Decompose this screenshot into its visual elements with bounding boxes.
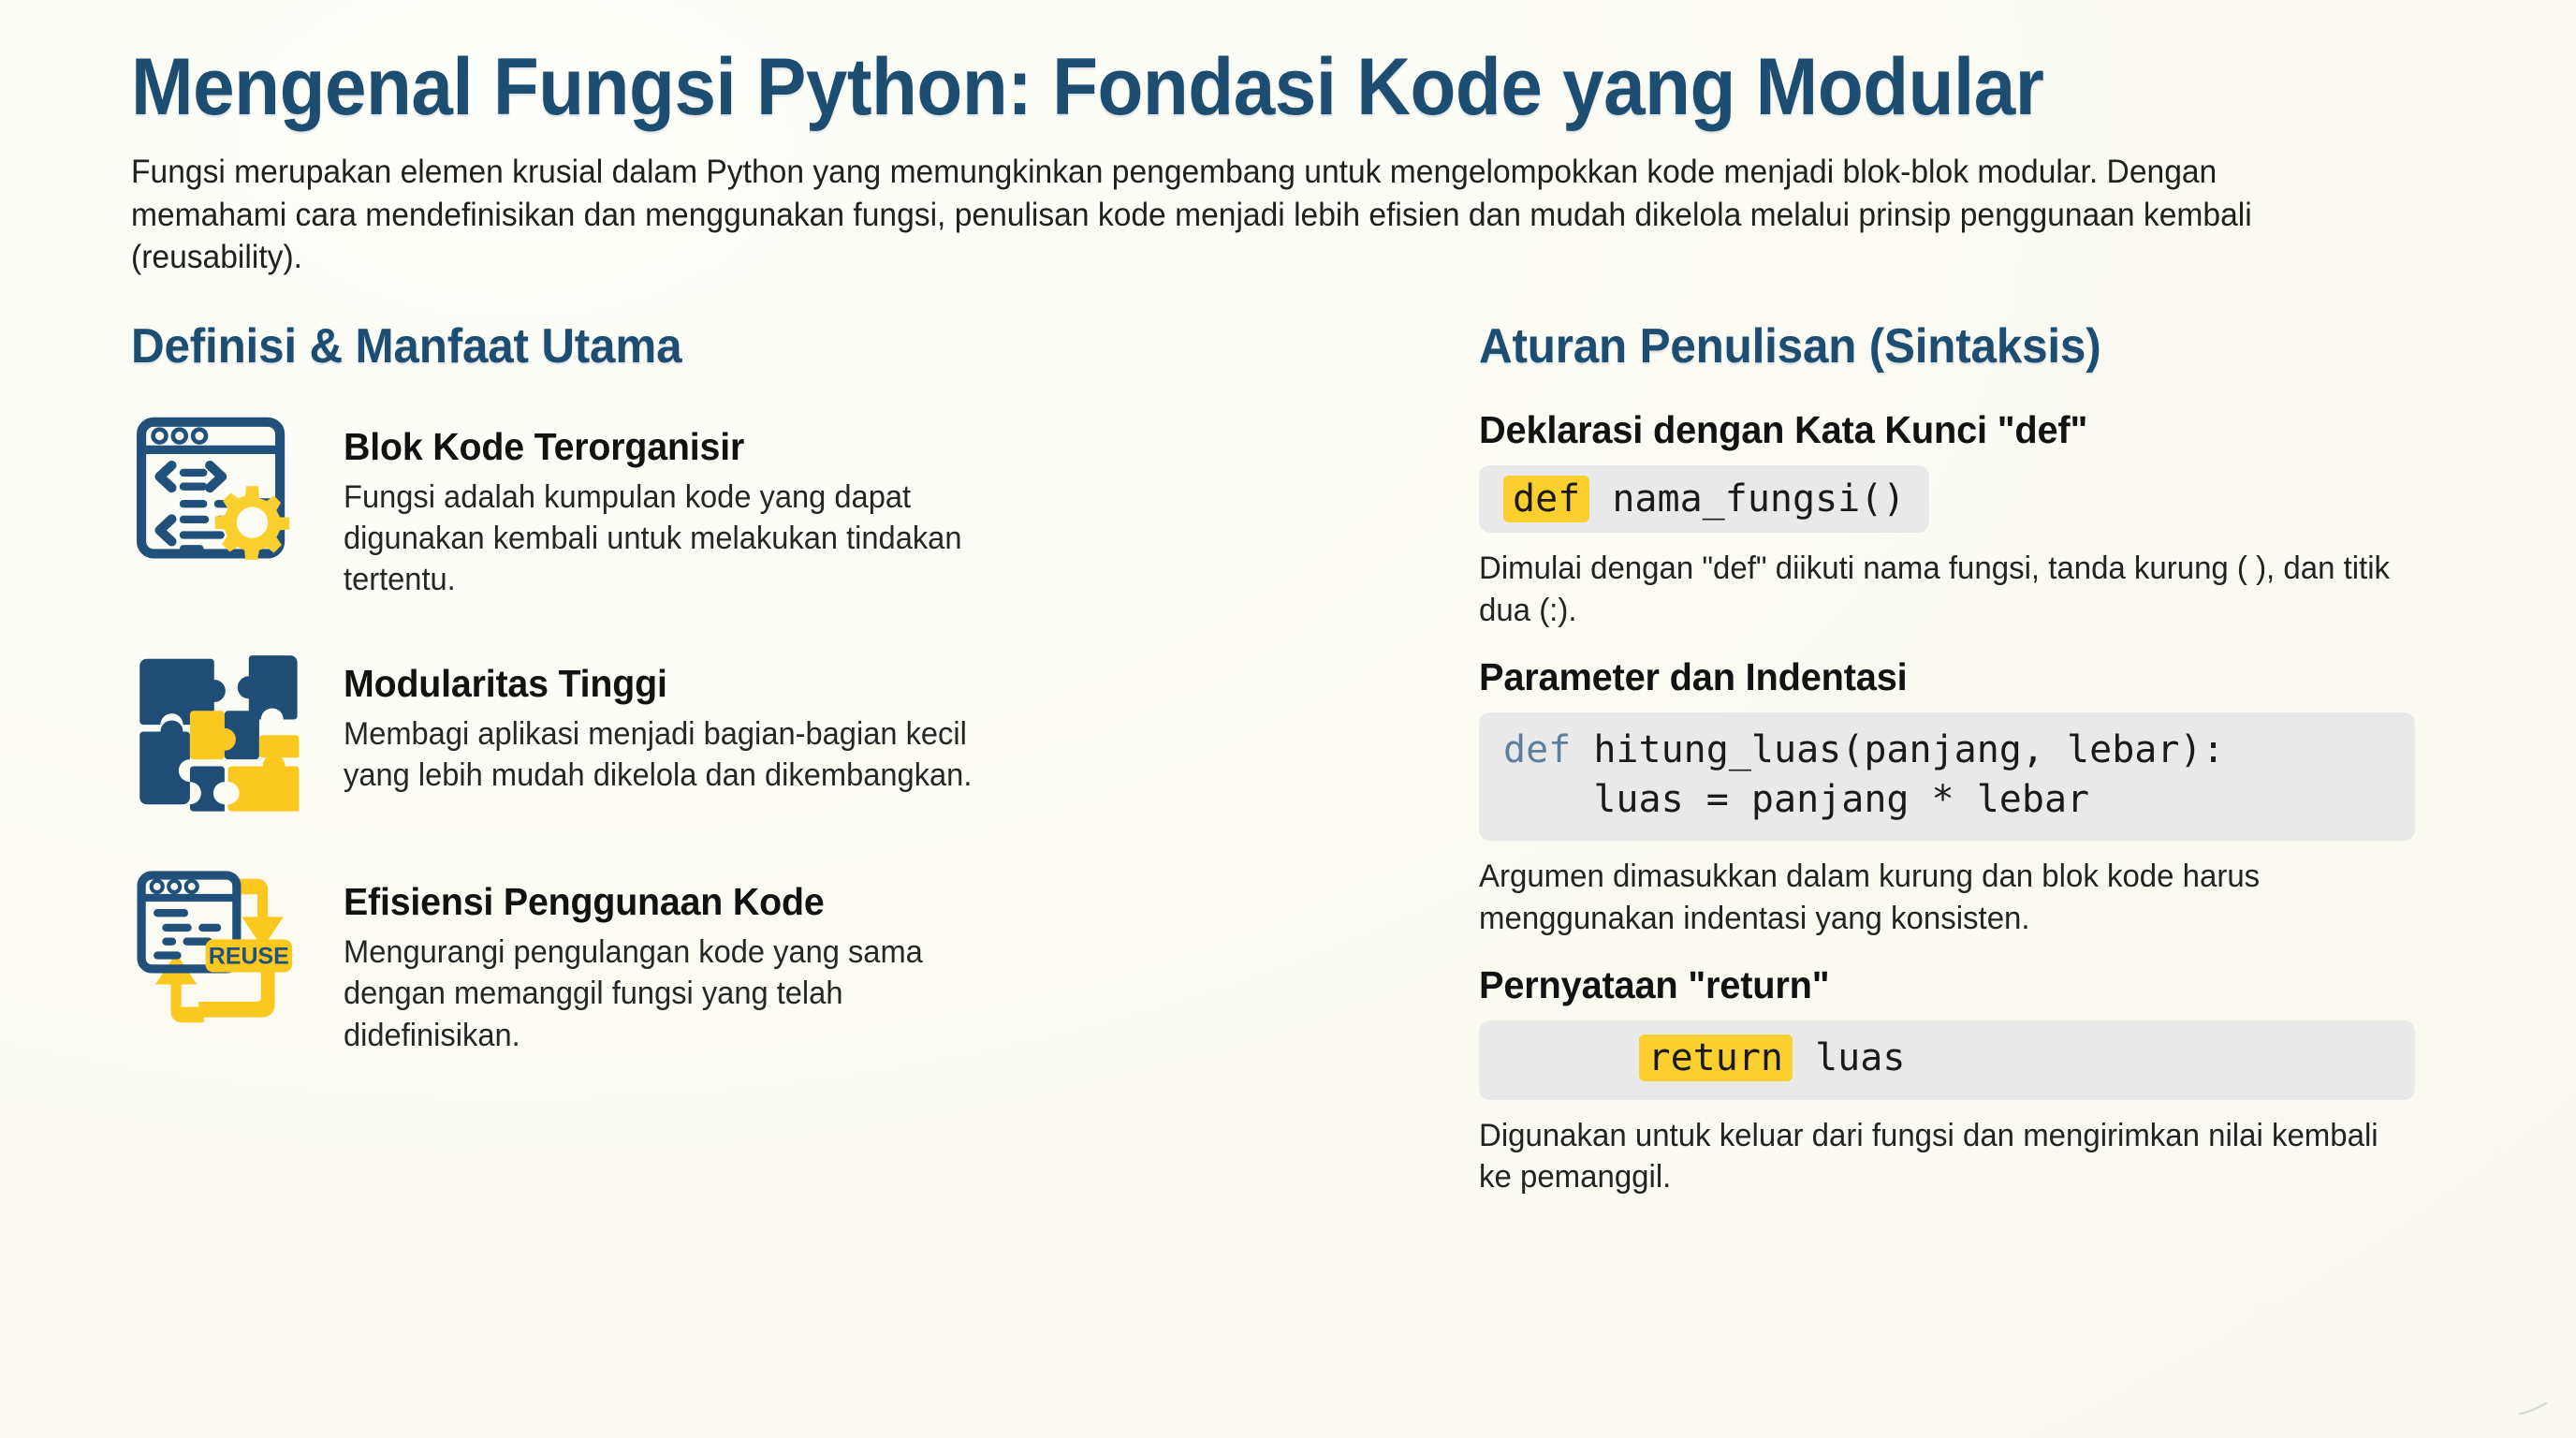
feature-description: Membagi aplikasi menjadi bagian-bagian k… — [344, 713, 1008, 796]
rule-item-pernyataan-return: Pernyataan "return" return luas Digunaka… — [1479, 963, 2481, 1197]
feature-title: Efisiensi Penggunaan Kode — [344, 880, 1008, 924]
rule-title: Parameter dan Indentasi — [1479, 655, 2451, 699]
code-snippet-def-nama-fungsi: def nama_fungsi() — [1479, 465, 1929, 534]
feature-title: Modularitas Tinggi — [344, 662, 1008, 706]
infographic-page: Mengenal Fungsi Python: Fondasi Kode yan… — [0, 0, 2576, 1438]
feature-text: Modularitas Tinggi Membagi aplikasi menj… — [344, 645, 1036, 796]
code-reuse-cycle-icon: REUSE — [131, 863, 304, 1036]
feature-text: Blok Kode Terorganisir Fungsi adalah kum… — [344, 408, 1036, 601]
corner-watermark-icon — [2518, 1401, 2550, 1417]
feature-text: Efisiensi Penggunaan Kode Mengurangi pen… — [344, 863, 1036, 1056]
code-line-2: luas = panjang * lebar — [1503, 775, 2391, 825]
feature-item-modularitas-tinggi: Modularitas Tinggi Membagi aplikasi menj… — [131, 645, 1460, 818]
rule-description: Dimulai dengan "def" diikuti nama fungsi… — [1479, 548, 2396, 630]
rule-description: Digunakan untuk keluar dari fungsi dan m… — [1479, 1115, 2396, 1197]
rule-item-parameter-indentasi: Parameter dan Indentasi def hitung_luas(… — [1479, 655, 2481, 939]
page-title: Mengenal Fungsi Python: Fondasi Kode yan… — [131, 45, 2326, 130]
code-line: def hitung_luas(panjang, lebar): — [1503, 726, 2391, 775]
header: Mengenal Fungsi Python: Fondasi Kode yan… — [131, 45, 2492, 279]
feature-item-efisiensi-penggunaan-kode: REUSE Efisiensi Penggunaan Kode Menguran… — [131, 863, 1460, 1056]
code-rest: luas — [1793, 1036, 1905, 1079]
feature-title: Blok Kode Terorganisir — [344, 425, 1008, 469]
code-keyword: def — [1503, 728, 1571, 771]
reuse-badge-label: REUSE — [209, 944, 289, 970]
code-rest: nama_fungsi() — [1589, 477, 1905, 521]
rule-title: Deklarasi dengan Kata Kunci "def" — [1479, 408, 2451, 452]
code-window-gear-icon — [131, 408, 304, 581]
code-snippet-return-luas: return luas — [1479, 1020, 2415, 1100]
rule-title: Pernyataan "return" — [1479, 963, 2451, 1007]
code-line: def nama_fungsi() — [1503, 475, 1905, 524]
right-column: Aturan Penulisan (Sintaksis) Deklarasi d… — [1460, 318, 2481, 1222]
code-rest: hitung_luas(panjang, lebar): — [1571, 728, 2224, 771]
left-column: Definisi & Manfaat Utama — [131, 318, 1460, 1222]
code-keyword: def — [1503, 476, 1589, 522]
rule-item-deklarasi-def: Deklarasi dengan Kata Kunci "def" def na… — [1479, 408, 2481, 631]
right-column-title: Aturan Penulisan (Sintaksis) — [1479, 318, 2431, 374]
left-column-title: Definisi & Manfaat Utama — [131, 318, 1394, 374]
puzzle-pieces-icon — [131, 645, 304, 818]
rule-description: Argumen dimasukkan dalam kurung dan blok… — [1479, 856, 2396, 938]
code-snippet-hitung-luas: def hitung_luas(panjang, lebar): luas = … — [1479, 712, 2415, 842]
intro-paragraph: Fungsi merupakan elemen krusial dalam Py… — [131, 151, 2350, 279]
feature-item-blok-kode-terorganisir: Blok Kode Terorganisir Fungsi adalah kum… — [131, 408, 1460, 601]
code-line: return luas — [1503, 1034, 2391, 1083]
content-columns: Definisi & Manfaat Utama — [131, 318, 2492, 1222]
code-keyword: return — [1639, 1034, 1793, 1081]
feature-description: Fungsi adalah kumpulan kode yang dapat d… — [344, 477, 1008, 601]
feature-description: Mengurangi pengulangan kode yang sama de… — [344, 932, 1008, 1056]
